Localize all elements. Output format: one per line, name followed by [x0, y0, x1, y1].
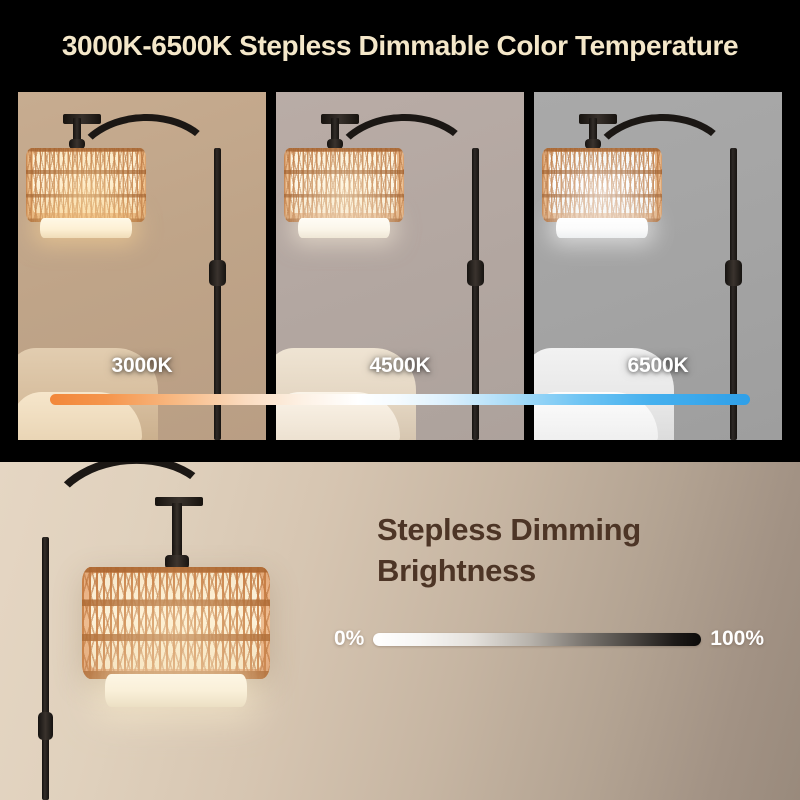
lamp-height-adjuster: [38, 712, 53, 740]
temperature-label-4500k: 4500K: [276, 354, 524, 378]
shade-light-glow: [542, 148, 662, 222]
temperature-panel-6500k: 6500K: [534, 92, 782, 440]
brightness-gradient-bar[interactable]: [373, 633, 701, 646]
dimming-heading: Stepless Dimming Brightness: [377, 510, 641, 592]
lamp-shade: [26, 148, 146, 222]
temperature-panel-3000k: 3000K: [18, 92, 266, 440]
floor-lamp: [18, 92, 266, 440]
brightness-max-label: 100%: [710, 627, 764, 651]
shade-light-glow: [82, 567, 270, 679]
temperature-label-3000k: 3000K: [18, 354, 266, 378]
dimming-section: Stepless Dimming Brightness 0% 100%: [0, 462, 800, 800]
temperature-panel-4500k: 4500K: [276, 92, 524, 440]
floor-lamp: [534, 92, 782, 440]
lamp-height-adjuster: [725, 260, 742, 286]
color-temperature-gradient-bar: [50, 394, 750, 405]
shade-light-glow: [26, 148, 146, 222]
lamp-diffuser: [298, 218, 390, 238]
color-temperature-panels: 3000K: [18, 92, 782, 440]
lamp-drop-rod: [172, 503, 182, 560]
brightness-slider-row: 0% 100%: [334, 624, 764, 654]
lamp-top-bracket: [579, 114, 617, 124]
lamp-shade: [542, 148, 662, 222]
lamp-pole: [42, 537, 49, 800]
color-temperature-section: 3000K-6500K Stepless Dimmable Color Temp…: [0, 0, 800, 462]
lamp-shade: [284, 148, 404, 222]
lamp-height-adjuster: [209, 260, 226, 286]
lamp-diffuser: [556, 218, 648, 238]
lamp-diffuser: [105, 674, 247, 707]
lamp-diffuser: [40, 218, 132, 238]
temperature-label-6500k: 6500K: [534, 354, 782, 378]
floor-lamp: [276, 92, 524, 440]
headline-title: 3000K-6500K Stepless Dimmable Color Temp…: [0, 30, 800, 62]
brightness-min-label: 0%: [334, 627, 364, 651]
lamp-top-bracket: [321, 114, 359, 124]
shade-light-glow: [284, 148, 404, 222]
lamp-shade: [82, 567, 270, 679]
lamp-top-bracket: [63, 114, 101, 124]
product-feature-image: 3000K-6500K Stepless Dimmable Color Temp…: [0, 0, 800, 800]
lamp-height-adjuster: [467, 260, 484, 286]
dimming-heading-line-1: Stepless Dimming: [377, 510, 641, 551]
dimming-heading-line-2: Brightness: [377, 551, 641, 592]
